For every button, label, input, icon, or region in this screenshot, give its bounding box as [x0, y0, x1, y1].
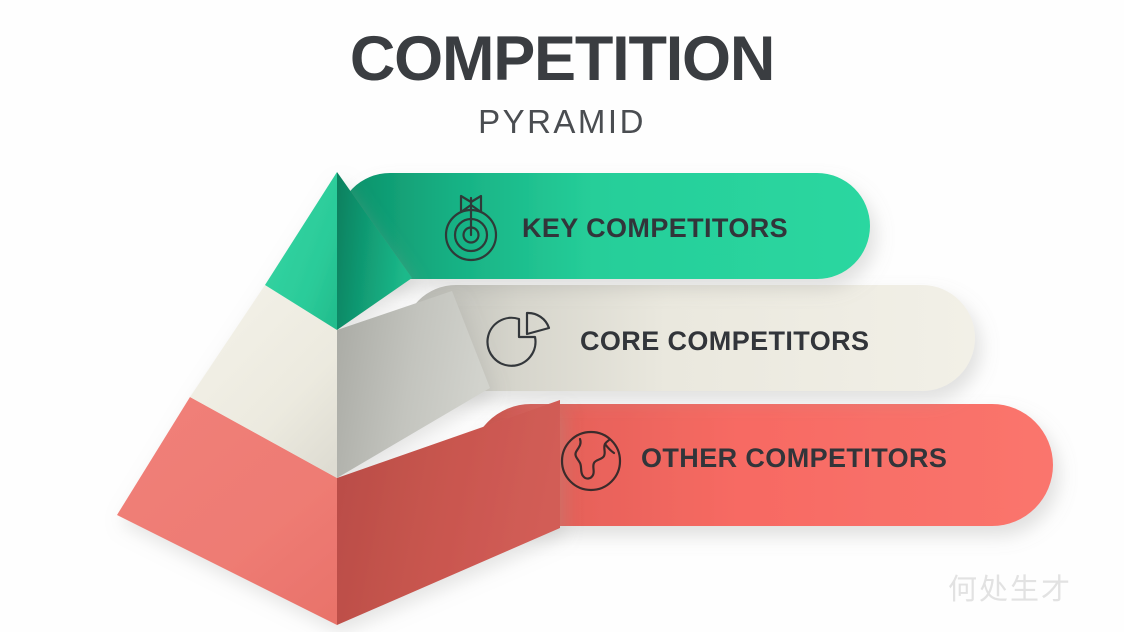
tier-3-label[interactable]: OTHER COMPETITORS	[641, 445, 947, 472]
pyramid-graphic	[0, 0, 1124, 632]
tier-1-label[interactable]: KEY COMPETITORS	[522, 215, 788, 242]
watermark: 何处生才	[948, 566, 1072, 608]
tier-2-label[interactable]: CORE COMPETITORS	[580, 328, 869, 355]
infographic-canvas: COMPETITION PYRAMID	[0, 0, 1124, 632]
